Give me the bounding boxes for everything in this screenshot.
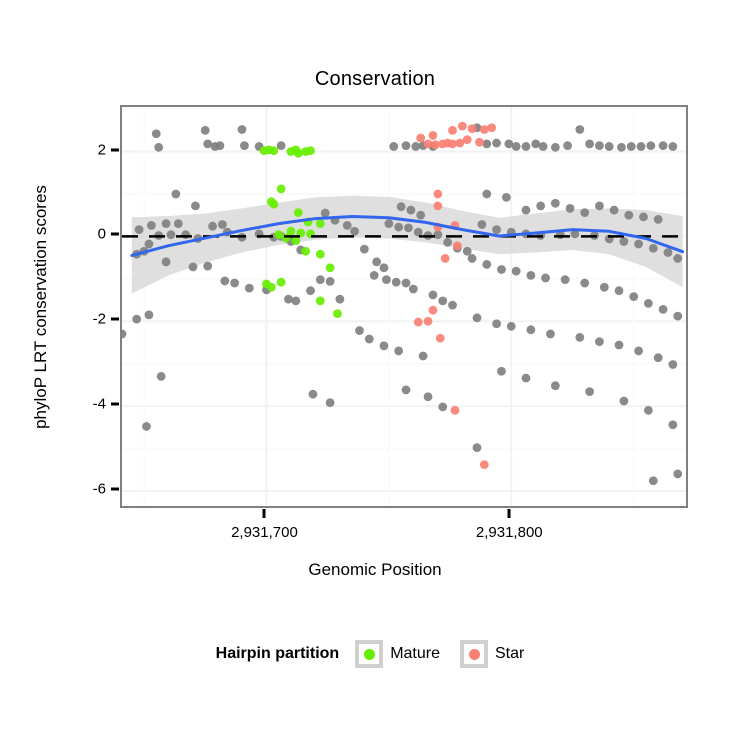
y-tick-label: 2 bbox=[76, 141, 106, 158]
data-point bbox=[487, 123, 496, 132]
data-point bbox=[646, 141, 655, 150]
y-tick-mark bbox=[111, 148, 119, 151]
data-point bbox=[637, 142, 646, 151]
y-axis-title: phyloP LRT conservation scores bbox=[28, 105, 54, 508]
data-point bbox=[392, 278, 401, 287]
data-point bbox=[595, 141, 604, 150]
data-point bbox=[154, 143, 163, 152]
legend-key bbox=[460, 640, 488, 668]
data-point bbox=[380, 263, 389, 272]
data-point bbox=[482, 260, 491, 269]
y-tick-mark bbox=[111, 487, 119, 490]
data-point bbox=[575, 125, 584, 134]
x-tick-mark bbox=[263, 509, 266, 518]
data-point bbox=[615, 341, 624, 350]
plot-panel[interactable] bbox=[120, 105, 688, 508]
data-point bbox=[575, 333, 584, 342]
legend-label: Star bbox=[495, 645, 524, 663]
data-point bbox=[294, 149, 303, 158]
data-point bbox=[673, 470, 682, 479]
data-point bbox=[615, 286, 624, 295]
data-point bbox=[610, 206, 619, 215]
series-other bbox=[122, 123, 682, 485]
data-point bbox=[463, 135, 472, 144]
data-point bbox=[512, 142, 521, 151]
data-point bbox=[238, 125, 247, 134]
data-point bbox=[673, 312, 682, 321]
conservation-scatter-figure: Conservation phyloP LRT conservation sco… bbox=[0, 0, 750, 750]
data-point bbox=[453, 241, 462, 250]
data-point bbox=[551, 143, 560, 152]
data-point bbox=[321, 209, 330, 218]
data-point bbox=[132, 315, 141, 324]
data-point bbox=[664, 248, 673, 257]
data-point bbox=[216, 141, 225, 150]
data-point bbox=[365, 335, 374, 344]
data-point bbox=[659, 305, 668, 314]
data-point bbox=[473, 313, 482, 322]
data-point bbox=[191, 201, 200, 210]
data-point bbox=[404, 224, 413, 233]
data-point bbox=[600, 283, 609, 292]
data-point bbox=[409, 285, 418, 294]
data-point bbox=[566, 204, 575, 213]
data-point bbox=[673, 254, 682, 263]
data-point bbox=[145, 240, 154, 249]
data-point bbox=[162, 257, 171, 266]
y-tick-label: -2 bbox=[76, 311, 106, 328]
data-point bbox=[355, 326, 364, 335]
data-point bbox=[277, 141, 286, 150]
data-point bbox=[218, 220, 227, 229]
data-point bbox=[451, 406, 460, 415]
y-tick-label: -4 bbox=[76, 396, 106, 413]
data-point bbox=[277, 278, 286, 287]
data-point bbox=[382, 275, 391, 284]
data-point bbox=[230, 279, 239, 288]
y-tick-mark bbox=[111, 403, 119, 406]
data-point bbox=[301, 247, 310, 256]
data-point bbox=[654, 353, 663, 362]
data-point bbox=[668, 142, 677, 151]
data-point bbox=[448, 301, 457, 310]
data-point bbox=[135, 225, 144, 234]
data-point bbox=[502, 193, 511, 202]
data-point bbox=[269, 146, 278, 155]
data-point bbox=[438, 403, 447, 412]
data-point bbox=[497, 367, 506, 376]
data-point bbox=[654, 215, 663, 224]
data-point bbox=[402, 141, 411, 150]
data-point bbox=[429, 306, 438, 315]
data-point bbox=[526, 325, 535, 334]
data-point bbox=[639, 212, 648, 221]
data-point bbox=[634, 240, 643, 249]
data-point bbox=[203, 262, 212, 271]
data-point bbox=[480, 460, 489, 469]
data-point bbox=[343, 221, 352, 230]
data-point bbox=[394, 347, 403, 356]
data-point bbox=[649, 476, 658, 485]
data-point bbox=[122, 330, 126, 339]
data-point bbox=[507, 322, 516, 331]
data-point bbox=[482, 190, 491, 199]
data-point bbox=[142, 422, 151, 431]
data-points bbox=[122, 122, 682, 485]
data-point bbox=[424, 392, 433, 401]
y-tick-mark bbox=[111, 318, 119, 321]
data-point bbox=[512, 267, 521, 276]
data-point bbox=[619, 237, 628, 246]
data-point bbox=[580, 279, 589, 288]
series-star bbox=[414, 122, 496, 469]
data-point bbox=[402, 386, 411, 395]
data-point bbox=[580, 208, 589, 217]
data-point bbox=[167, 230, 176, 239]
y-axis-title-text: phyloP LRT conservation scores bbox=[31, 185, 51, 429]
data-point bbox=[389, 142, 398, 151]
data-point bbox=[539, 142, 548, 151]
data-point bbox=[220, 277, 229, 286]
data-point bbox=[644, 299, 653, 308]
data-point bbox=[441, 254, 450, 263]
data-point bbox=[617, 143, 626, 152]
data-point bbox=[181, 230, 190, 239]
data-point bbox=[360, 245, 369, 254]
data-point bbox=[333, 309, 342, 318]
data-point bbox=[335, 295, 344, 304]
data-point bbox=[482, 140, 491, 149]
data-point bbox=[316, 275, 325, 284]
data-point bbox=[416, 134, 425, 143]
data-point bbox=[419, 352, 428, 361]
data-point bbox=[306, 146, 315, 155]
data-point bbox=[406, 206, 415, 215]
data-point bbox=[326, 263, 335, 272]
data-point bbox=[605, 142, 614, 151]
x-axis-title: Genomic Position bbox=[0, 560, 750, 580]
data-point bbox=[284, 295, 293, 304]
x-tick-mark bbox=[508, 509, 511, 518]
data-point bbox=[269, 200, 278, 209]
data-point bbox=[668, 420, 677, 429]
data-point bbox=[267, 283, 276, 292]
legend-dot-icon bbox=[469, 649, 480, 660]
data-point bbox=[291, 296, 300, 305]
legend-label: Mature bbox=[390, 645, 440, 663]
gridlines bbox=[122, 107, 688, 508]
data-point bbox=[277, 184, 286, 193]
data-point bbox=[240, 141, 249, 150]
x-tick-label: 2,931,800 bbox=[476, 524, 543, 541]
data-point bbox=[659, 141, 668, 150]
data-point bbox=[152, 129, 161, 138]
data-point bbox=[629, 292, 638, 301]
data-point bbox=[522, 374, 531, 383]
data-point bbox=[433, 201, 442, 210]
data-point bbox=[649, 244, 658, 253]
data-point bbox=[492, 139, 501, 148]
data-point bbox=[546, 330, 555, 339]
data-point bbox=[468, 254, 477, 263]
data-point bbox=[433, 230, 442, 239]
data-point bbox=[326, 277, 335, 286]
data-point bbox=[414, 318, 423, 327]
data-point bbox=[561, 275, 570, 284]
data-point bbox=[380, 341, 389, 350]
data-point bbox=[429, 291, 438, 300]
legend-title: Hairpin partition bbox=[216, 645, 340, 663]
data-point bbox=[402, 279, 411, 288]
data-point bbox=[174, 219, 183, 228]
data-point bbox=[282, 234, 291, 243]
data-point bbox=[668, 360, 677, 369]
data-point bbox=[477, 220, 486, 229]
chart-title: Conservation bbox=[0, 68, 750, 91]
legend-key bbox=[355, 640, 383, 668]
data-point bbox=[492, 225, 501, 234]
data-point bbox=[316, 296, 325, 305]
legend-item-mature[interactable]: Mature bbox=[355, 640, 450, 668]
data-point bbox=[536, 201, 545, 210]
data-point bbox=[309, 390, 318, 399]
legend-item-star[interactable]: Star bbox=[460, 640, 534, 668]
data-point bbox=[436, 334, 445, 343]
y-tick-mark bbox=[111, 233, 119, 236]
data-point bbox=[147, 221, 156, 230]
data-point bbox=[619, 397, 628, 406]
y-tick-label: 0 bbox=[76, 226, 106, 243]
data-point bbox=[497, 265, 506, 274]
data-point bbox=[443, 238, 452, 247]
data-point bbox=[201, 126, 210, 135]
data-point bbox=[306, 286, 315, 295]
data-point bbox=[372, 257, 381, 266]
data-point bbox=[162, 219, 171, 228]
data-point bbox=[433, 190, 442, 199]
data-point bbox=[492, 319, 501, 328]
data-point bbox=[416, 211, 425, 220]
data-point bbox=[522, 142, 531, 151]
data-point bbox=[522, 206, 531, 215]
data-point bbox=[627, 142, 636, 151]
data-point bbox=[585, 387, 594, 396]
data-point bbox=[526, 271, 535, 280]
data-point bbox=[644, 406, 653, 415]
data-point bbox=[157, 372, 166, 381]
legend: Hairpin partition MatureStar bbox=[0, 640, 750, 668]
data-point bbox=[294, 208, 303, 217]
data-point bbox=[424, 317, 433, 326]
data-point bbox=[350, 227, 359, 236]
data-point bbox=[326, 398, 335, 407]
data-point bbox=[189, 263, 198, 272]
data-point bbox=[245, 284, 254, 293]
data-point bbox=[551, 199, 560, 208]
data-point bbox=[551, 381, 560, 390]
data-point bbox=[595, 337, 604, 346]
data-point bbox=[595, 201, 604, 210]
data-point bbox=[624, 211, 633, 220]
data-point bbox=[394, 223, 403, 232]
data-point bbox=[384, 219, 393, 228]
data-point bbox=[171, 190, 180, 199]
data-point bbox=[316, 219, 325, 228]
data-point bbox=[563, 141, 572, 150]
data-point bbox=[208, 222, 217, 231]
data-point bbox=[473, 443, 482, 452]
data-point bbox=[429, 131, 438, 140]
data-point bbox=[397, 202, 406, 211]
data-point bbox=[475, 138, 484, 147]
data-point bbox=[438, 296, 447, 305]
data-point bbox=[458, 122, 467, 131]
data-point bbox=[468, 124, 477, 133]
x-tick-label: 2,931,700 bbox=[231, 524, 298, 541]
data-point bbox=[541, 274, 550, 283]
data-point bbox=[480, 125, 489, 134]
plot-canvas bbox=[122, 107, 688, 508]
data-point bbox=[463, 247, 472, 256]
legend-dot-icon bbox=[364, 649, 375, 660]
y-tick-label: -6 bbox=[76, 480, 106, 497]
data-point bbox=[145, 310, 154, 319]
data-point bbox=[370, 271, 379, 280]
data-point bbox=[634, 347, 643, 356]
data-point bbox=[316, 250, 325, 259]
data-point bbox=[585, 140, 594, 149]
data-point bbox=[448, 126, 457, 135]
